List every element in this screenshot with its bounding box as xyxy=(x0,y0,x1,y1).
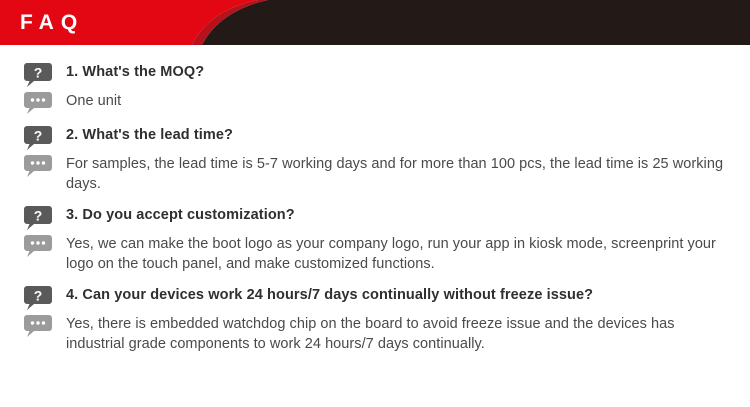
question-text-cell: 2. What's the lead time? xyxy=(56,125,736,146)
faq-question: 2. What's the lead time? xyxy=(66,125,736,146)
question-text-cell: 1. What's the MOQ? xyxy=(56,62,736,83)
header-dark-shape xyxy=(202,0,750,45)
question-text-cell: 3. Do you accept customization? xyxy=(56,205,736,226)
question-icon-cell: ? xyxy=(24,205,56,230)
faq-question: 4. Can your devices work 24 hours/7 days… xyxy=(66,285,736,306)
answer-speech-bubble-icon xyxy=(24,235,52,257)
question-speech-bubble-icon: ? xyxy=(24,126,52,150)
faq-answer-row: For samples, the lead time is 5-7 workin… xyxy=(24,154,736,194)
faq-answer-row: Yes, there is embedded watchdog chip on … xyxy=(24,314,736,354)
faq-item: ? 3. Do you accept customization? xyxy=(24,205,736,274)
faq-question-row: ? 3. Do you accept customization? xyxy=(24,205,736,230)
answer-text-cell: For samples, the lead time is 5-7 workin… xyxy=(56,154,736,194)
svg-text:?: ? xyxy=(34,65,43,81)
faq-question: 3. Do you accept customization? xyxy=(66,205,736,226)
answer-icon-cell xyxy=(24,91,56,114)
answer-icon-cell xyxy=(24,314,56,337)
faq-answer: Yes, we can make the boot logo as your c… xyxy=(66,234,736,274)
faq-item: ? 1. What's the MOQ? One un xyxy=(24,62,736,114)
answer-text-cell: One unit xyxy=(56,91,736,111)
question-speech-bubble-icon: ? xyxy=(24,206,52,230)
faq-question: 1. What's the MOQ? xyxy=(66,62,736,83)
svg-text:?: ? xyxy=(34,128,43,144)
faq-question-row: ? 2. What's the lead time? xyxy=(24,125,736,150)
faq-header-banner: FAQ xyxy=(0,0,750,45)
svg-text:?: ? xyxy=(34,208,43,224)
faq-question-row: ? 4. Can your devices work 24 hours/7 da… xyxy=(24,285,736,310)
question-speech-bubble-icon: ? xyxy=(24,63,52,87)
faq-answer: Yes, there is embedded watchdog chip on … xyxy=(66,314,736,354)
page-title: FAQ xyxy=(20,0,84,45)
answer-icon-cell xyxy=(24,234,56,257)
faq-item: ? 2. What's the lead time? xyxy=(24,125,736,194)
faq-answer: One unit xyxy=(66,91,736,111)
answer-text-cell: Yes, there is embedded watchdog chip on … xyxy=(56,314,736,354)
answer-text-cell: Yes, we can make the boot logo as your c… xyxy=(56,234,736,274)
answer-icon-cell xyxy=(24,154,56,177)
answer-speech-bubble-icon xyxy=(24,315,52,337)
faq-answer-row: Yes, we can make the boot logo as your c… xyxy=(24,234,736,274)
faq-answer: For samples, the lead time is 5-7 workin… xyxy=(66,154,736,194)
faq-answer-row: One unit xyxy=(24,91,736,114)
question-icon-cell: ? xyxy=(24,285,56,310)
answer-speech-bubble-icon xyxy=(24,155,52,177)
question-text-cell: 4. Can your devices work 24 hours/7 days… xyxy=(56,285,736,306)
question-icon-cell: ? xyxy=(24,62,56,87)
question-icon-cell: ? xyxy=(24,125,56,150)
faq-page: FAQ ? 1. What's the MOQ? xyxy=(0,0,750,407)
svg-text:?: ? xyxy=(34,288,43,304)
answer-speech-bubble-icon xyxy=(24,92,52,114)
faq-list: ? 1. What's the MOQ? One un xyxy=(0,45,750,354)
header-shape-graphic xyxy=(0,0,750,45)
faq-item: ? 4. Can your devices work 24 hours/7 da… xyxy=(24,285,736,354)
question-speech-bubble-icon: ? xyxy=(24,286,52,310)
faq-question-row: ? 1. What's the MOQ? xyxy=(24,62,736,87)
